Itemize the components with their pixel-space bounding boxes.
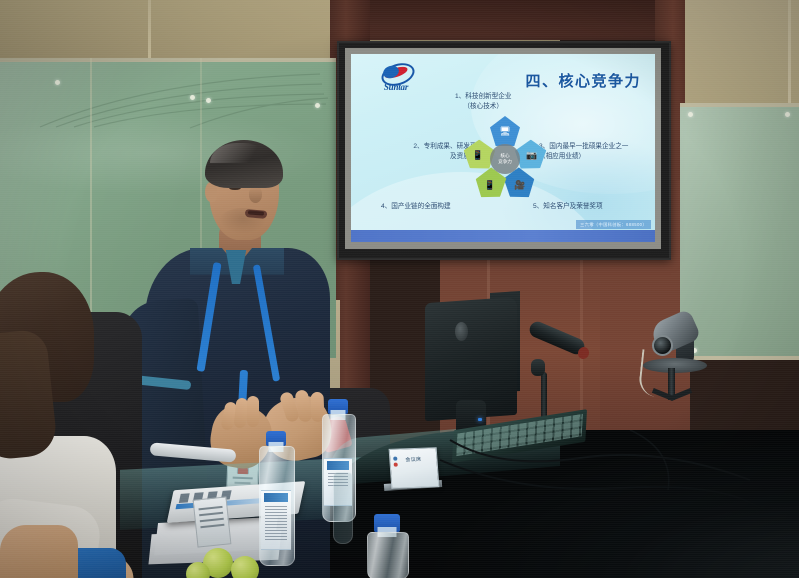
finger <box>247 396 259 427</box>
monitor-camera-icon <box>455 322 468 341</box>
placard-dot-red <box>394 463 398 467</box>
slide-bullet-4: 4、国产业链的全面构建 <box>381 202 451 212</box>
table-cables <box>430 430 770 550</box>
wall-panel-top-right <box>666 0 799 110</box>
monitor-icon: 🖥 <box>490 116 520 146</box>
water-bottle <box>259 446 293 564</box>
ceiling-reflection-lines <box>30 72 330 132</box>
mobile-icon: 📱 <box>463 140 493 170</box>
wood-band-top <box>330 0 680 40</box>
glass-mount-dot <box>688 112 693 117</box>
star-center-label: 核心 竞争力 <box>490 144 520 174</box>
slide-bullet-5: 5、知名客户及荣誉奖项 <box>533 202 603 212</box>
water-bottle <box>333 472 351 542</box>
green-fruit <box>231 556 259 578</box>
glass-mount-dot <box>785 112 790 117</box>
slide-bullet-1: 1、科技创新型企业 （核心技术） <box>455 92 511 112</box>
slide-footer: 三六零（中国科创板：688500） <box>576 220 651 229</box>
water-bottle <box>367 532 407 578</box>
photo-scene: Suntar 四、核心竞争力 1、科技创新型企业 （核心技术） 2、专利成果、研… <box>0 0 799 578</box>
glass-mount-dot <box>315 103 320 108</box>
placard-dot-blue <box>393 457 397 461</box>
camera-mount-plate <box>643 358 707 373</box>
attendee-hand-foreground <box>0 525 78 578</box>
suntar-logo: Suntar <box>371 64 421 98</box>
monitor-power-led <box>478 418 482 421</box>
video-camera-icon: 🎥 <box>505 170 535 200</box>
glass-panel-right-reflection <box>680 105 799 360</box>
petal-top: 🖥 <box>490 116 520 146</box>
core-competency-star-diagram: 🖥 📷 🎥 📱 📱 核心 竞争力 <box>459 116 551 202</box>
name-placard-text: 会议席 <box>401 457 425 464</box>
hanging-tag <box>193 496 232 547</box>
presentation-slide: Suntar 四、核心竞争力 1、科技创新型企业 （核心技术） 2、专利成果、研… <box>351 54 655 242</box>
slide-bottom-bar <box>351 230 655 242</box>
glass-mount-dot <box>190 95 195 100</box>
camera-icon: 📷 <box>517 140 547 170</box>
presenter-nose <box>249 187 262 203</box>
suntar-logo-mark <box>381 64 411 81</box>
slide-bullet-3: 3、国内最早一批硕果企业之一 （相应用业绩） <box>539 142 651 162</box>
wall-panel-seam-right <box>788 0 791 110</box>
glass-panel-right-frame-top <box>680 103 799 107</box>
slide-title: 四、核心竞争力 <box>525 70 641 91</box>
camera-lens <box>652 335 673 356</box>
glass-mount-dot <box>55 80 60 85</box>
microphone-joint <box>531 359 545 376</box>
bottle-label <box>261 490 291 550</box>
phone-icon: 📱 <box>475 170 505 200</box>
glass-panel-left-frame <box>0 58 336 62</box>
glass-mount-dot <box>206 98 211 103</box>
